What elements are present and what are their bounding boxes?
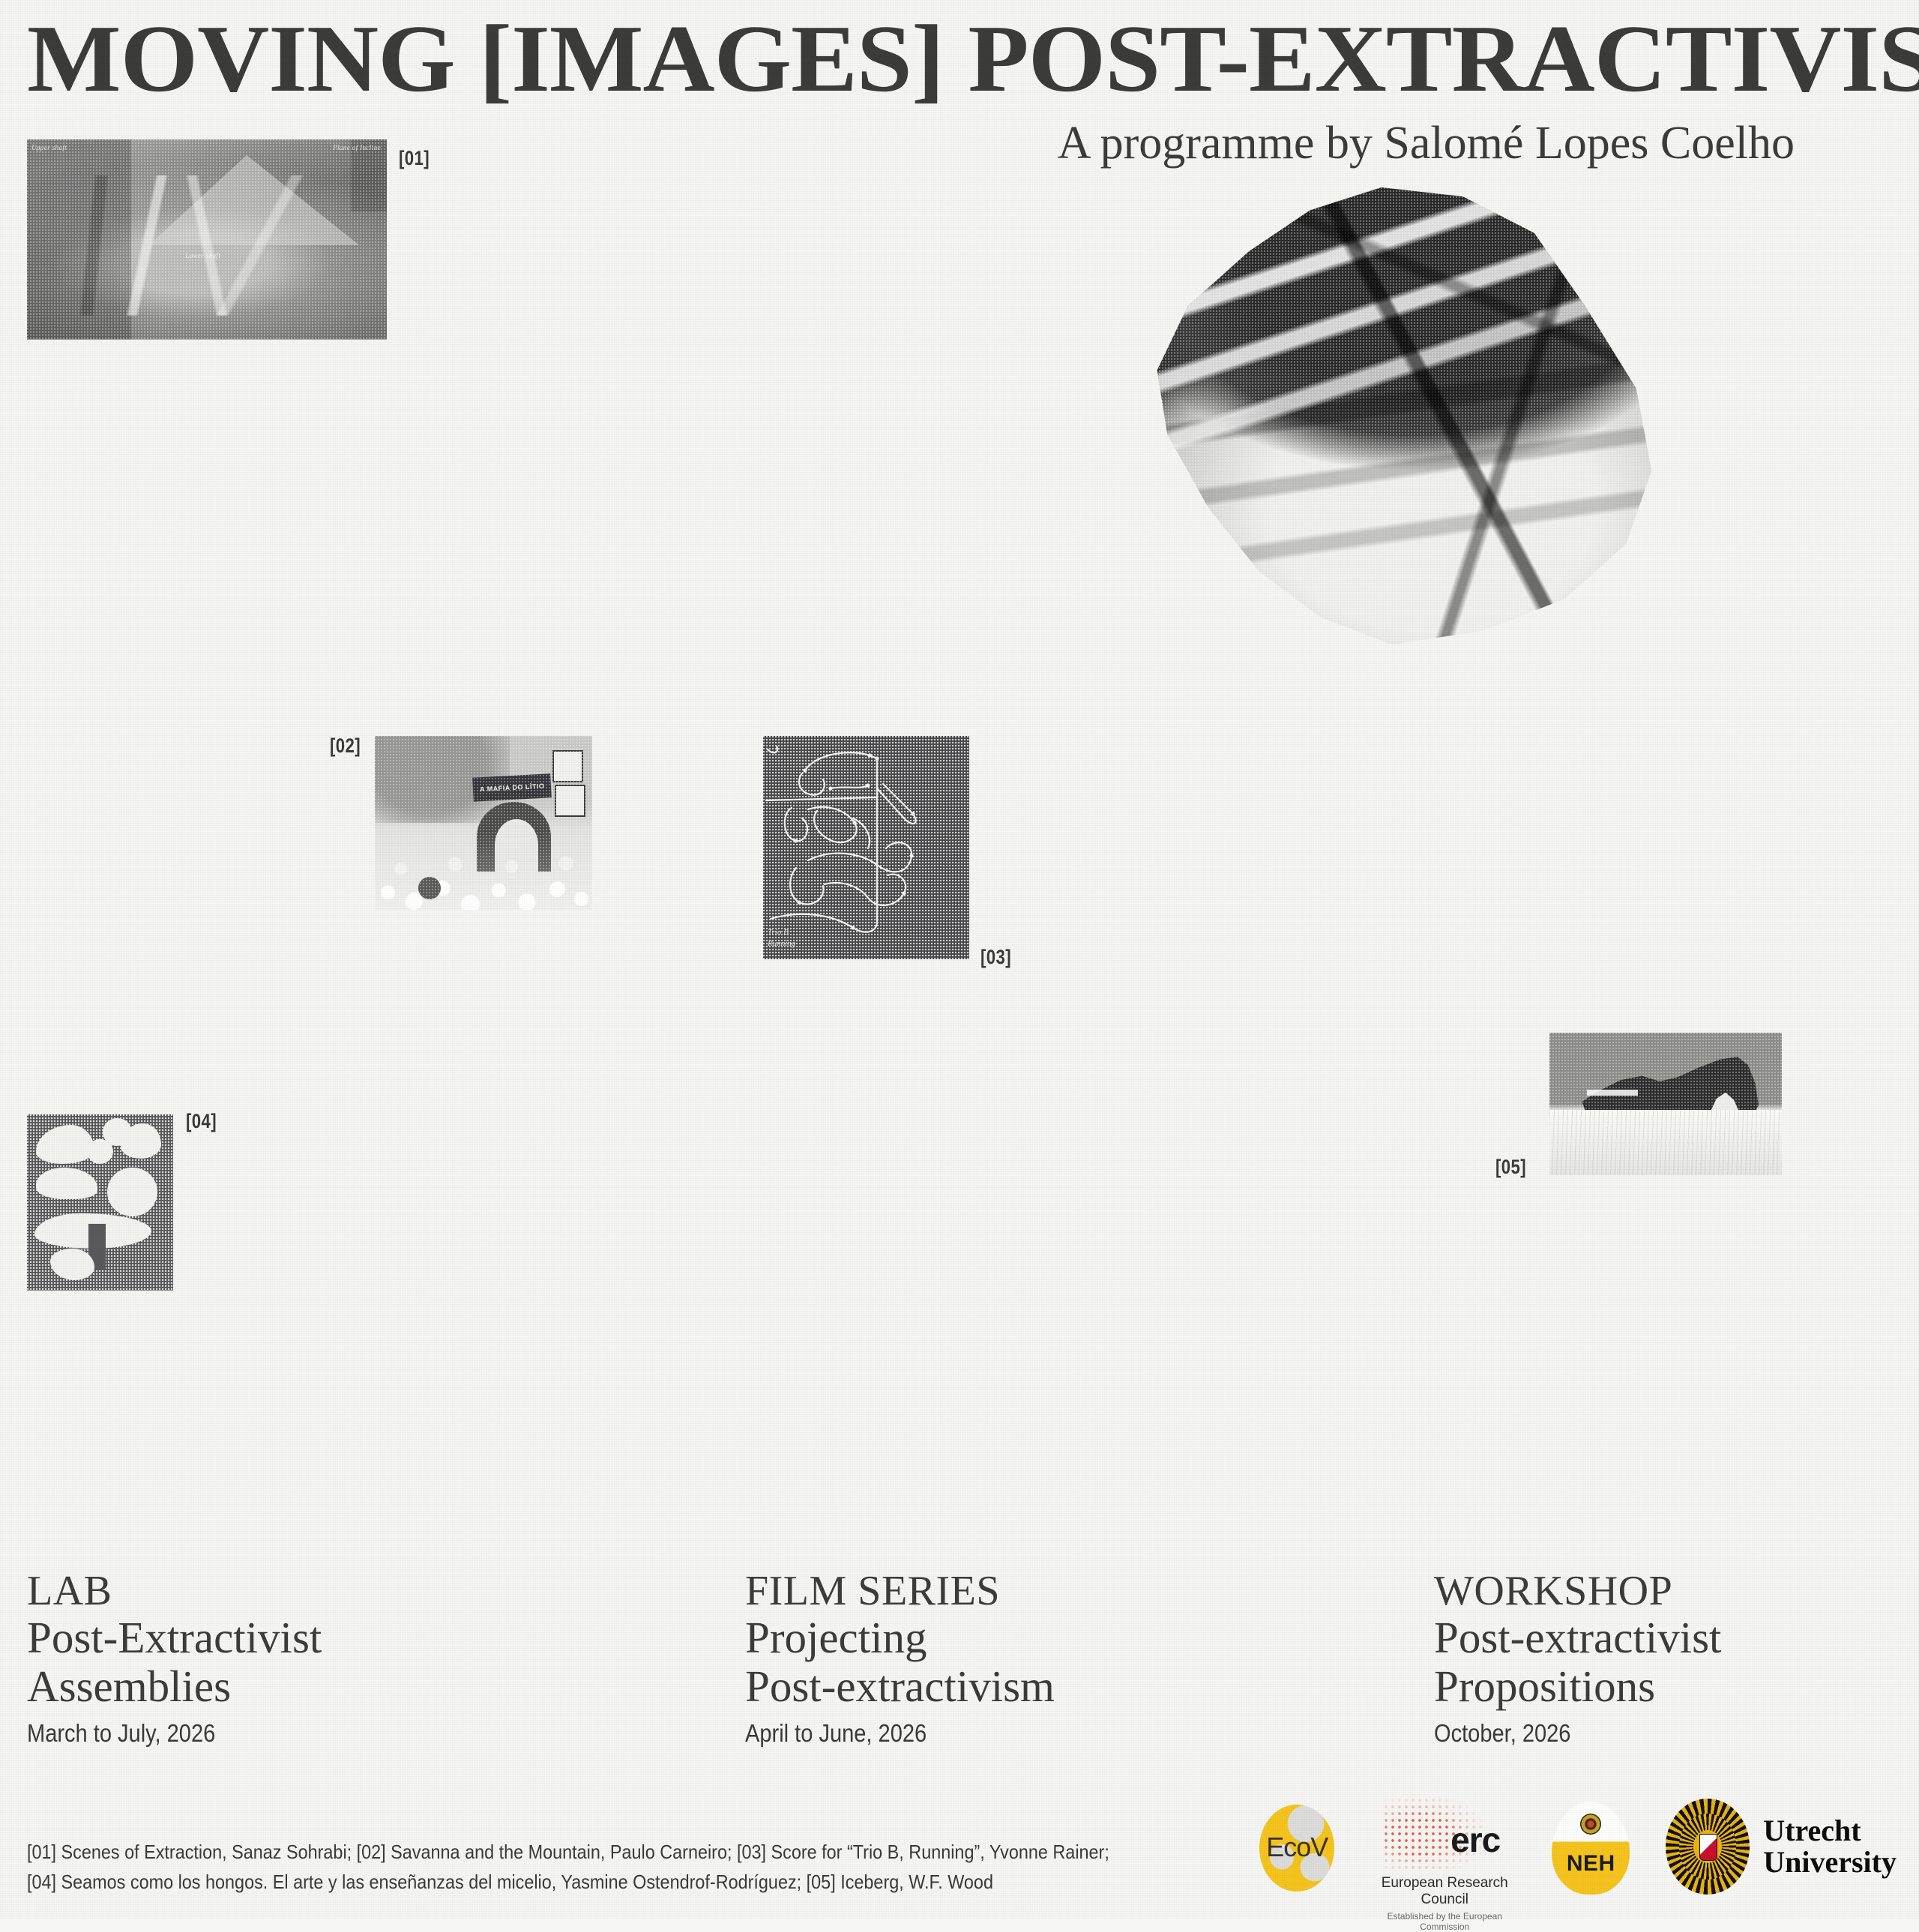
poster-canvas: MOVING [IMAGES] POST-EXTRACTIVISM A prog… — [0, 0, 1919, 1919]
erc-wordmark: erc — [1450, 1820, 1500, 1860]
programme-kicker: FILM SERIES — [745, 1570, 1055, 1613]
figure-rock-specimen — [1147, 187, 1657, 644]
utrecht-line2: University — [1763, 1847, 1897, 1878]
figure-banner: A MAFIA DO LÍTIO — [472, 774, 552, 803]
sunburst-seal-icon — [1666, 1799, 1750, 1895]
figure-trio-b-running-score: Trio BRunning [03] — [763, 736, 969, 959]
figure-tag-05: [05] — [1495, 1156, 1526, 1179]
figure-scenes-of-extraction: Upper shaft Plane of Incline Lower shaft… — [27, 139, 387, 339]
figure-annotation: Plane of Incline — [333, 144, 381, 152]
figure-mycelium-fungi: [04] — [27, 1114, 173, 1290]
programme-column-film-series: FILM SERIES Projecting Post-extractivism… — [745, 1570, 1055, 1747]
programme-column-lab: LAB Post-Extractivist Assemblies March t… — [27, 1570, 322, 1747]
figure-crowd — [375, 802, 592, 910]
erc-logo[interactable]: erc European Research Council Establishe… — [1373, 1799, 1516, 1932]
utrecht-wordmark: Utrecht University — [1763, 1815, 1897, 1877]
programme-kicker: LAB — [27, 1570, 322, 1613]
programme-dates: October, 2026 — [1434, 1720, 1687, 1747]
erc-established-line: Established by the European Commission — [1373, 1911, 1516, 1932]
programme-title-line1: Post-Extractivist — [27, 1614, 322, 1661]
ecov-wordmark: EcoV — [1266, 1832, 1328, 1863]
utrecht-line1: Utrecht — [1763, 1815, 1897, 1847]
programme-column-workshop: WORKSHOP Post-extractivist Propositions … — [1434, 1570, 1721, 1747]
page-title: MOVING [IMAGES] POST-EXTRACTIVISM — [27, 10, 1919, 106]
fungus-shape — [107, 1168, 157, 1217]
figure-tag-01: [01] — [399, 147, 430, 170]
programme-title-line1: Projecting — [745, 1614, 1055, 1661]
figure-handwriting-03: Trio BRunning — [768, 927, 795, 949]
neh-wordmark: NEH — [1552, 1851, 1630, 1877]
neh-logo[interactable]: NEH — [1552, 1799, 1630, 1896]
erc-mark: erc — [1385, 1799, 1504, 1872]
programme-title-line2: Post-extractivism — [745, 1663, 1055, 1710]
shield-icon — [1699, 1834, 1717, 1860]
ice-field — [1549, 1110, 1782, 1175]
erc-name-line: European Research Council — [1373, 1875, 1516, 1908]
utrecht-university-logo[interactable]: Utrecht University — [1666, 1799, 1897, 1895]
fungus-shape — [87, 1139, 113, 1164]
figure-banner-text: A MAFIA DO LÍTIO — [479, 783, 544, 794]
figure-road-sign — [552, 750, 584, 782]
figure-image-03: Trio BRunning — [763, 736, 969, 959]
figure-score-lines — [763, 736, 969, 959]
programme-kicker: WORKSHOP — [1434, 1570, 1721, 1613]
figure-image-02: A MAFIA DO LÍTIO — [375, 736, 592, 910]
figure-image-04 — [27, 1114, 173, 1290]
iceberg-highlight — [1587, 1090, 1638, 1096]
figure-annotation: Lower shaft — [185, 252, 220, 260]
rock-cracks — [1147, 187, 1657, 644]
figure-tag-03: [03] — [980, 946, 1011, 969]
programme-dates: April to June, 2026 — [745, 1720, 1017, 1747]
image-credits: [01] Scenes of Extraction, Sanaz Sohrabi… — [27, 1838, 1133, 1897]
figure-image-01: Upper shaft Plane of Incline Lower shaft — [27, 139, 387, 339]
programme-title-line2: Assemblies — [27, 1663, 322, 1710]
figure-image-05 — [1549, 1033, 1782, 1175]
figure-savanna-and-the-mountain: A MAFIA DO LÍTIO [02] — [375, 736, 592, 910]
programme-title-line1: Post-extractivist — [1434, 1614, 1721, 1661]
funder-logos: EcoV erc European Research Council Estab… — [1256, 1799, 1897, 1900]
figure-drum — [418, 877, 441, 899]
figure-tag-04: [04] — [186, 1110, 217, 1133]
figure-tag-02: [02] — [330, 734, 361, 758]
figure-ridge-lines — [55, 175, 358, 316]
ecov-logo[interactable]: EcoV — [1256, 1799, 1337, 1896]
figure-iceberg: [05] — [1549, 1033, 1782, 1175]
page-subtitle: A programme by Salomé Lopes Coelho — [1058, 120, 1795, 166]
programme-dates: March to July, 2026 — [27, 1720, 286, 1747]
figure-annotation: Upper shaft — [31, 144, 67, 152]
programme-title-line2: Propositions — [1434, 1663, 1721, 1710]
